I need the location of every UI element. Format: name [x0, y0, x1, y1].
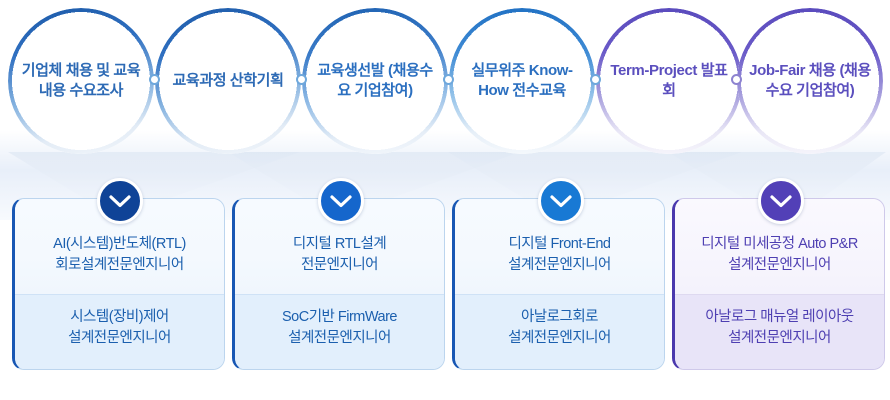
role-card-secondary-text: SoC기반 FirmWare 설계전문엔지니어: [282, 307, 397, 348]
role-card-secondary-text: 아날로그회로 설계전문엔지니어: [508, 307, 611, 348]
chevron-down-icon: [109, 195, 131, 208]
stage-circle-2[interactable]: 교육과정 산학기획: [155, 8, 301, 154]
chevron-down-button-3[interactable]: [538, 178, 584, 224]
stage-circle-5[interactable]: Term-Project 발표회: [596, 8, 742, 154]
chevron-down-icon: [330, 195, 352, 208]
stage-circle-label: 교육생선발 (채용수요 기업참여): [312, 61, 438, 101]
chevron-down-button-4[interactable]: [758, 178, 804, 224]
role-card-secondary-text: 아날로그 매뉴얼 레이아웃 설계전문엔지니어: [705, 307, 853, 348]
stage-circle-label: 기업체 채용 및 교육내용 수요조사: [18, 61, 144, 101]
stage-circle-3[interactable]: 교육생선발 (채용수요 기업참여): [302, 8, 448, 154]
stage-circle-label: Job-Fair 채용 (채용수요 기업참여): [747, 61, 873, 101]
stage-circle-label: 실무위주 Know-How 전수교육: [459, 61, 585, 101]
process-diagram: 기업체 채용 및 교육내용 수요조사 교육과정 산학기획 교육생선발 (채용수요…: [0, 0, 890, 400]
role-card-secondary-section: 아날로그회로 설계전문엔지니어: [455, 295, 664, 369]
role-card-secondary-section: 시스템(장비)제어 설계전문엔지니어: [15, 295, 224, 369]
role-card-secondary-section: SoC기반 FirmWare 설계전문엔지니어: [235, 295, 444, 369]
stage-join-dot-2: [296, 74, 307, 85]
stage-circle-1[interactable]: 기업체 채용 및 교육내용 수요조사: [8, 8, 154, 154]
stage-circle-label: Term-Project 발표회: [606, 61, 732, 101]
stage-circle-label: 교육과정 산학기획: [165, 71, 291, 91]
chevron-down-icon: [550, 195, 572, 208]
role-card-primary-text: AI(시스템)반도체(RTL) 회로설계전문엔지니어: [53, 234, 186, 275]
stage-join-dot-4: [590, 74, 601, 85]
stage-join-dot-1: [149, 74, 160, 85]
role-card-primary-text: 디지털 RTL설계 전문엔지니어: [293, 234, 386, 275]
stage-join-dot-5: [731, 74, 742, 85]
role-card-secondary-section: 아날로그 매뉴얼 레이아웃 설계전문엔지니어: [675, 295, 884, 369]
chevron-down-button-1[interactable]: [97, 178, 143, 224]
chevron-down-button-2[interactable]: [318, 178, 364, 224]
stage-circle-6[interactable]: Job-Fair 채용 (채용수요 기업참여): [737, 8, 883, 154]
stage-join-dot-3: [443, 74, 454, 85]
stage-circle-row: 기업체 채용 및 교육내용 수요조사 교육과정 산학기획 교육생선발 (채용수요…: [0, 0, 890, 160]
role-card-primary-text: 디지털 Front-End 설계전문엔지니어: [508, 234, 611, 275]
role-card-secondary-text: 시스템(장비)제어 설계전문엔지니어: [68, 307, 171, 348]
stage-circle-4[interactable]: 실무위주 Know-How 전수교육: [449, 8, 595, 154]
chevron-down-icon: [770, 195, 792, 208]
role-card-primary-text: 디지털 미세공정 Auto P&R 설계전문엔지니어: [701, 234, 858, 275]
